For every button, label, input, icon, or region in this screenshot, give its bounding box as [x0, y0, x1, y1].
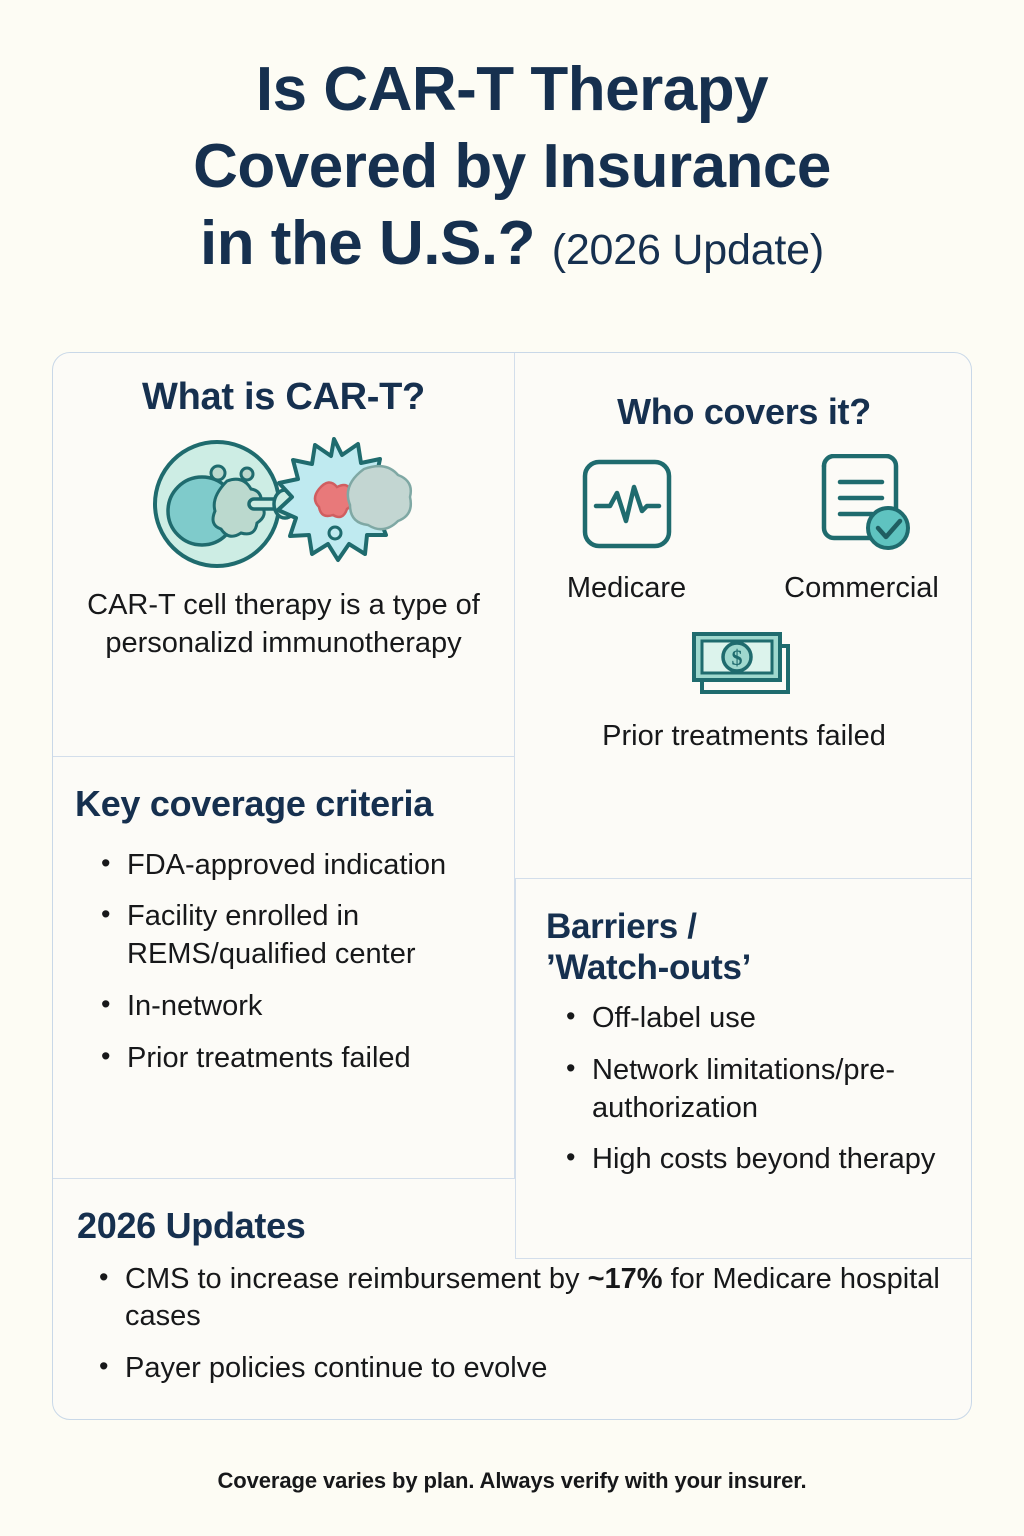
list-item: Prior treatments failed	[93, 1040, 494, 1078]
title-update-tag: (2026 Update)	[552, 226, 824, 274]
panel-2026-updates: 2026 Updates CMS to increase reimburseme…	[53, 1179, 972, 1420]
barriers-heading-line-1: Barriers /	[546, 907, 951, 948]
coverage-label-commercial: Commercial	[774, 571, 949, 607]
svg-text:$: $	[732, 645, 743, 670]
coverage-icon-row: Medicare Commercia	[537, 443, 951, 607]
update-percent-emphasis: ~17%	[588, 1263, 663, 1295]
heartbeat-monitor-icon	[539, 443, 714, 565]
title-line-1: Is CAR-T Therapy	[60, 52, 964, 129]
document-check-icon	[774, 443, 949, 565]
coverage-label-medicare: Medicare	[539, 571, 714, 607]
list-item: Off-label use	[558, 1000, 951, 1038]
content-card: What is CAR-T? CAR-T cell	[52, 352, 972, 1420]
panel-body-what-is-cart: CAR-T cell therapy is a type of personal…	[77, 586, 490, 663]
panel-heading-key-coverage-criteria: Key coverage criteria	[75, 783, 494, 825]
criteria-list: FDA-approved indication Facility enrolle…	[75, 847, 494, 1077]
panel-heading-what-is-cart: What is CAR-T?	[77, 375, 490, 419]
barriers-list: Off-label use Network limitations/pre-au…	[546, 1000, 951, 1179]
title-line-3: in the U.S.? (2026 Update)	[60, 206, 964, 283]
coverage-item-prior-treatments: $ Prior treatments failed	[537, 621, 951, 755]
car-t-cell-attacking-tumor-illustration	[139, 429, 429, 579]
list-item: FDA-approved indication	[93, 847, 494, 885]
coverage-label-prior-treatments: Prior treatments failed	[537, 719, 951, 755]
banknote-dollar-icon: $	[537, 621, 951, 707]
panel-heading-barriers-watchouts: Barriers / ’Watch-outs’	[546, 907, 951, 988]
updates-list: CMS to increase reimbursement by ~17% fo…	[77, 1261, 949, 1388]
list-item: In-network	[93, 988, 494, 1026]
panel-key-coverage-criteria: Key coverage criteria FDA-approved indic…	[53, 757, 515, 1179]
title-line-2: Covered by Insurance	[60, 129, 964, 206]
list-item: Network limitations/pre-authorization	[558, 1052, 951, 1127]
panel-who-covers-it: Who covers it? Medicare	[515, 353, 972, 879]
footer-disclaimer: Coverage varies by plan. Always verify w…	[0, 1468, 1024, 1494]
title-main-question: in the U.S.?	[200, 209, 535, 278]
infographic-page: Is CAR-T Therapy Covered by Insurance in…	[0, 0, 1024, 1536]
list-item: CMS to increase reimbursement by ~17% fo…	[91, 1261, 949, 1336]
barriers-heading-line-2: ’Watch-outs’	[546, 948, 951, 989]
panel-heading-who-covers-it: Who covers it?	[537, 391, 951, 433]
coverage-item-commercial: Commercial	[774, 443, 949, 607]
panel-what-is-cart: What is CAR-T? CAR-T cell	[53, 353, 515, 757]
page-title: Is CAR-T Therapy Covered by Insurance in…	[0, 52, 1024, 283]
coverage-item-medicare: Medicare	[539, 443, 714, 607]
list-item: Facility enrolled in REMS/qualified cent…	[93, 898, 494, 973]
list-item: Payer policies continue to evolve	[91, 1350, 949, 1388]
list-item: High costs beyond therapy	[558, 1141, 951, 1179]
update-text-pre: CMS to increase reimbursement by	[125, 1263, 588, 1295]
panel-heading-2026-updates: 2026 Updates	[77, 1205, 949, 1247]
